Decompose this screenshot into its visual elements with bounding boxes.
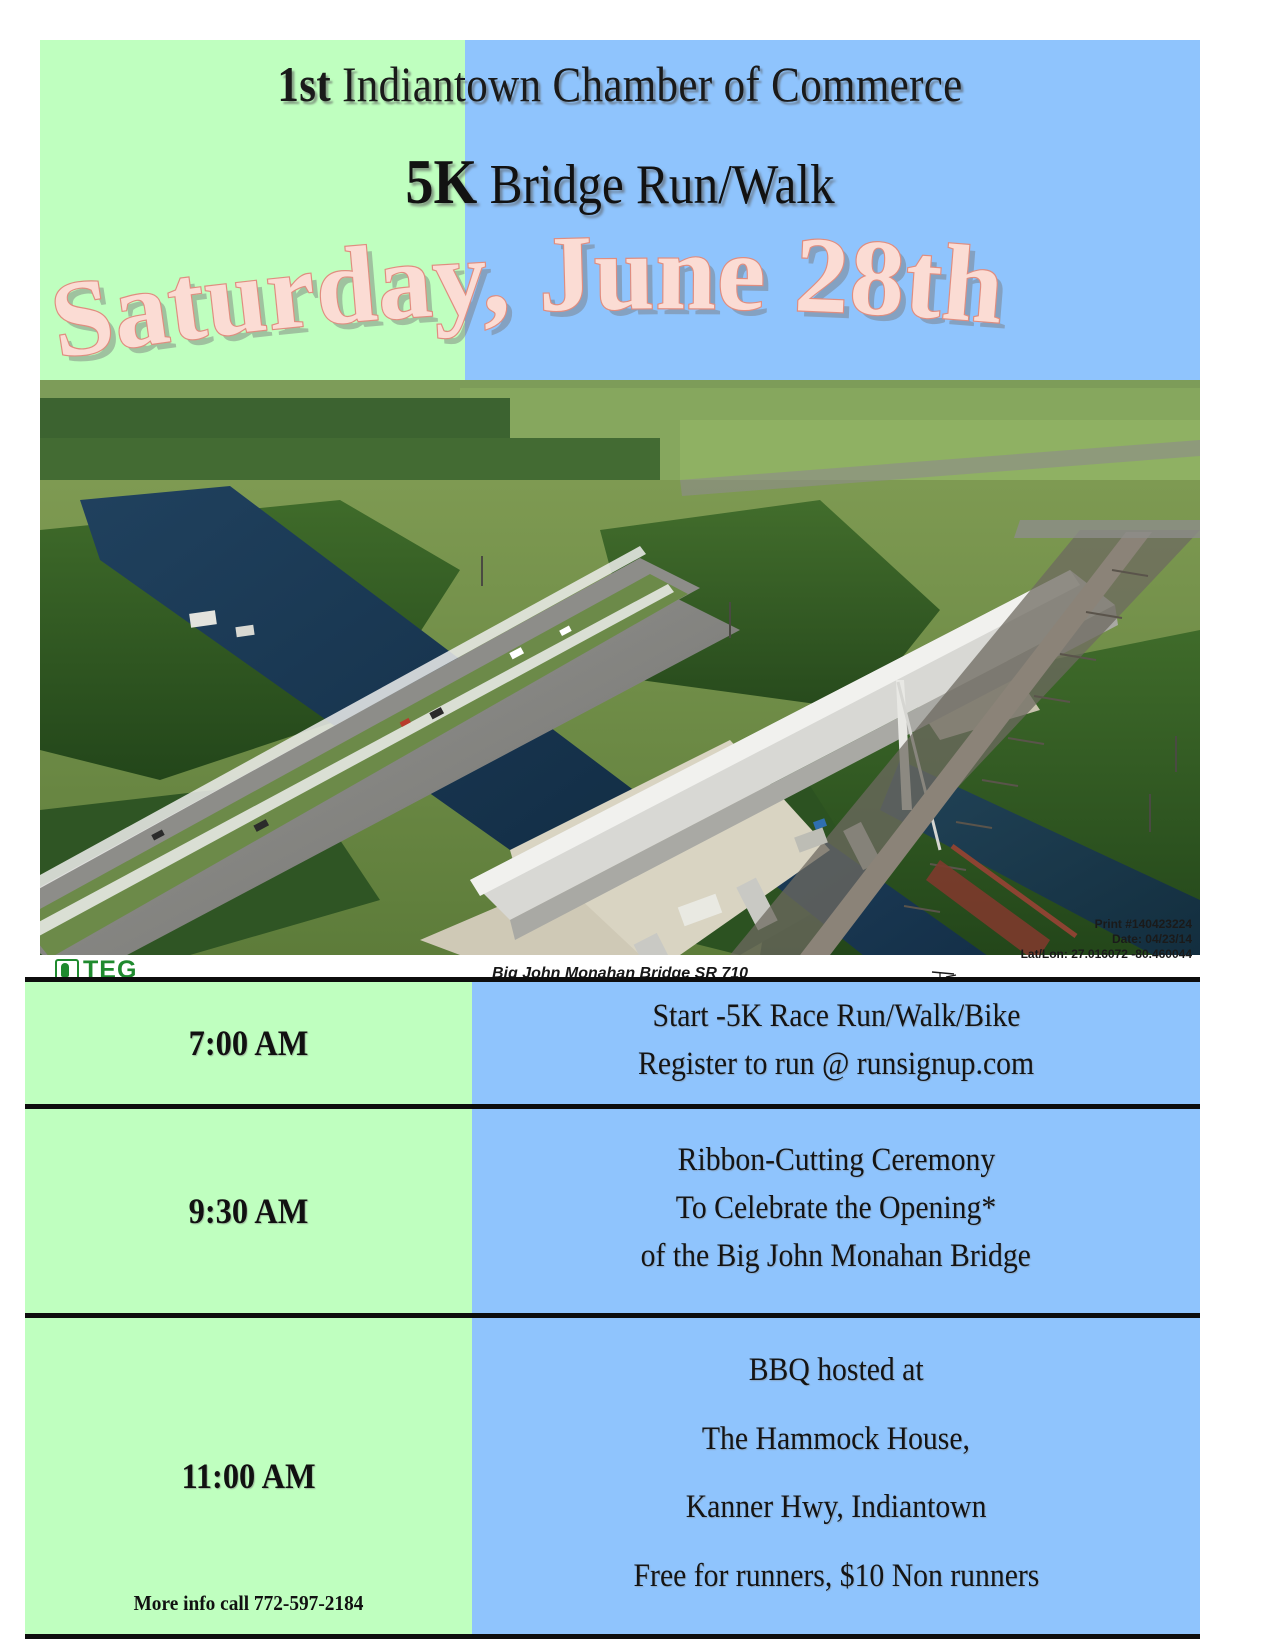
event-schedule-table: 7:00 AM Start -5K Race Run/Walk/Bike Reg… <box>25 977 1200 1639</box>
headline-lead: 1st <box>277 56 331 112</box>
schedule-desc-line: Ribbon-Cutting Ceremony <box>677 1137 995 1185</box>
schedule-desc-line: Kanner Hwy, Indiantown <box>686 1484 987 1532</box>
schedule-time-label: 9:30 AM <box>189 1190 309 1232</box>
schedule-time-cell: 11:00 AM More info call 772-597-2184 <box>25 1318 472 1634</box>
table-row: 11:00 AM More info call 772-597-2184 BBQ… <box>25 1313 1200 1639</box>
schedule-time-label: 11:00 AM <box>181 1455 315 1497</box>
schedule-desc-line[interactable]: Register to run @ runsignup.com <box>638 1041 1034 1089</box>
schedule-desc-line: To Celebrate the Opening* <box>676 1185 996 1233</box>
print-number: Print #140423224 <box>1021 917 1192 932</box>
headline-rest: Indiantown Chamber of Commerce <box>331 56 963 112</box>
print-date: Date: 04/23/14 <box>1021 932 1192 947</box>
schedule-desc-line: The Hammock House, <box>702 1416 970 1464</box>
schedule-desc-line: Start -5K Race Run/Walk/Bike <box>652 993 1020 1041</box>
more-info-phone: More info call 772-597-2184 <box>43 1591 454 1616</box>
print-latlon: Lat/Lon: 27.016072 -80.460044 <box>1021 947 1192 962</box>
schedule-time-cell: 9:30 AM <box>25 1109 472 1313</box>
schedule-desc-line: Free for runners, $10 Non runners <box>633 1553 1039 1601</box>
table-row: 7:00 AM Start -5K Race Run/Walk/Bike Reg… <box>25 977 1200 1104</box>
print-metadata: Print #140423224 Date: 04/23/14 Lat/Lon:… <box>1021 917 1192 962</box>
flyer-page: 1st Indiantown Chamber of Commerce 5K Br… <box>0 0 1275 1650</box>
bridge-aerial-photo <box>40 380 1200 955</box>
schedule-time-cell: 7:00 AM <box>25 982 472 1104</box>
table-row: 9:30 AM Ribbon-Cutting Ceremony To Celeb… <box>25 1104 1200 1313</box>
schedule-desc-cell: BBQ hosted at The Hammock House, Kanner … <box>472 1318 1200 1634</box>
subhead-rest: Bridge Run/Walk <box>477 154 834 216</box>
schedule-desc-line: of the Big John Monahan Bridge <box>641 1233 1031 1281</box>
schedule-desc-cell: Start -5K Race Run/Walk/Bike Register to… <box>472 982 1200 1104</box>
schedule-desc-cell: Ribbon-Cutting Ceremony To Celebrate the… <box>472 1109 1200 1313</box>
flyer-subheadline: 5K Bridge Run/Walk <box>110 148 1131 215</box>
schedule-time-label: 7:00 AM <box>189 1022 309 1064</box>
flyer-headline: 1st Indiantown Chamber of Commerce <box>121 58 1119 111</box>
subhead-distance: 5K <box>405 146 477 217</box>
schedule-desc-line: BBQ hosted at <box>749 1347 924 1395</box>
